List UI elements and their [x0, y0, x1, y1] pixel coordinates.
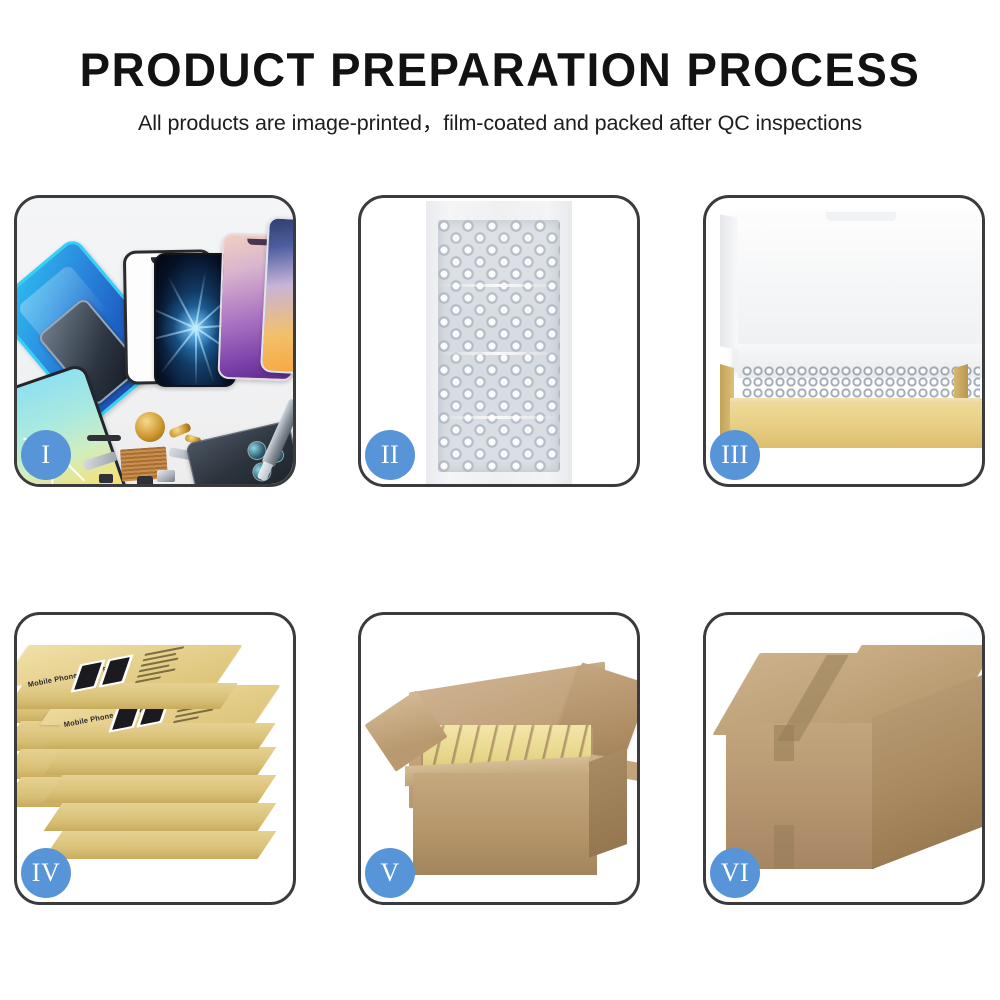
kraft-box-front	[730, 404, 982, 448]
speaker-part	[135, 412, 165, 442]
step-badge-4: IV	[21, 848, 71, 898]
seam-tape-front-lower	[774, 825, 794, 869]
process-step-2[interactable]: II	[358, 195, 640, 487]
process-step-4[interactable]: Mobile Phone Spare Parts Mobile Phone Sp…	[14, 612, 296, 905]
process-step-6[interactable]: VI	[703, 612, 985, 905]
carton-right-face	[589, 748, 627, 858]
carton-front-face	[413, 773, 597, 875]
step-badge-1: I	[21, 430, 71, 480]
table-row	[53, 775, 267, 803]
table-row	[53, 747, 267, 775]
process-step-5[interactable]: V	[358, 612, 640, 905]
process-step-3[interactable]: III	[703, 195, 985, 487]
step-badge-5: V	[365, 848, 415, 898]
step-badge-2: II	[365, 430, 415, 480]
seam-tape-front-upper	[774, 725, 794, 761]
step-badge-6: VI	[710, 848, 760, 898]
connector-block	[99, 474, 113, 483]
sealed-carton-front	[726, 723, 874, 869]
metal-shield-plate	[157, 470, 175, 482]
product-process-page: PRODUCT PREPARATION PROCESS All products…	[0, 0, 1000, 1000]
step-badge-3: III	[710, 430, 760, 480]
camera-module	[137, 476, 153, 484]
table-row	[53, 803, 267, 831]
table-row	[53, 831, 267, 859]
bubble-wrapped-product	[438, 220, 560, 472]
process-step-1[interactable]: I	[14, 195, 296, 487]
process-grid: I II	[0, 0, 1000, 1000]
antenna-strip	[87, 435, 121, 441]
